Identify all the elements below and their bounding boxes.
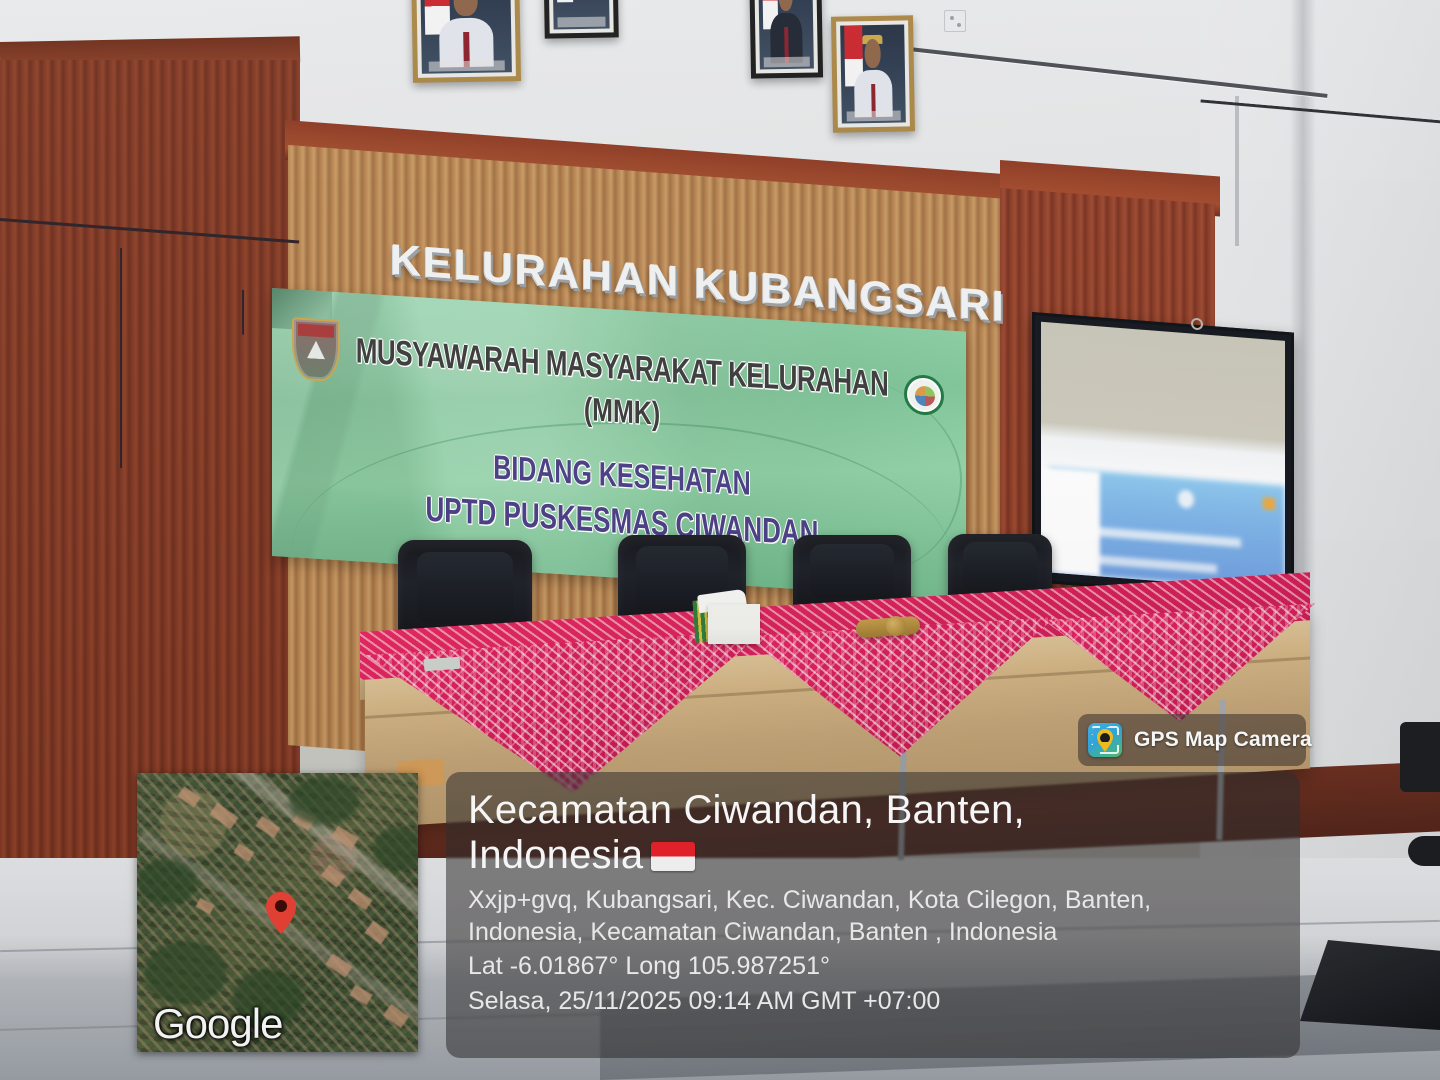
address-line-1: Xxjp+gvq, Kubangsari, Kec. Ciwandan, Kot… — [468, 886, 1151, 914]
map-vegetation — [289, 777, 359, 825]
remote-control — [424, 657, 461, 671]
capture-timestamp: Selasa, 25/11/2025 09:14 AM GMT +07:00 — [468, 985, 1300, 1018]
slide-accent — [1263, 497, 1275, 510]
projector-screen — [1032, 312, 1294, 603]
map-vegetation — [373, 827, 418, 871]
photo-canvas: KELURAHAN KUBANGSARI MUSYAWARAH MASYARAK… — [0, 0, 1440, 1080]
address-line-2: Indonesia, Kecamatan Ciwandan, Banten , … — [468, 918, 1057, 946]
power-outlet — [944, 10, 966, 32]
location-title-line-1: Kecamatan Ciwandan, Banten, — [468, 788, 1025, 832]
portrait-image — [840, 24, 906, 123]
official-portrait — [749, 0, 823, 79]
location-title: Kecamatan Ciwandan, Banten, Indonesia — [468, 788, 1228, 878]
screen-hook — [1191, 318, 1203, 331]
rope-drop — [120, 248, 122, 468]
screen-surface — [1041, 322, 1285, 591]
portrait-caption — [429, 60, 505, 71]
tissue-box — [708, 604, 760, 644]
portrait-image — [552, 0, 609, 29]
dark-equipment — [1400, 722, 1440, 792]
google-watermark: Google — [153, 1000, 282, 1048]
map-thumbnail[interactable]: Google — [137, 773, 418, 1052]
location-coordinates: Lat -6.01867° Long 105.987251° — [468, 950, 1300, 983]
map-vegetation — [137, 859, 197, 905]
official-portrait — [543, 0, 619, 39]
rope-loop — [242, 290, 244, 335]
portrait-head — [778, 0, 793, 11]
official-portrait — [831, 15, 915, 132]
map-vegetation — [145, 941, 227, 1005]
gps-camera-app-icon — [1088, 723, 1122, 757]
official-portrait — [411, 0, 521, 83]
portrait-head — [864, 39, 881, 69]
wood-paneling-left — [0, 60, 300, 880]
bamboo-roll-end — [886, 616, 906, 636]
portrait-head — [454, 0, 478, 16]
portrait-caption — [558, 17, 605, 28]
flag-backdrop — [556, 0, 572, 2]
location-address: Xxjp+gvq, Kubangsari, Kec. Ciwandan, Kot… — [468, 884, 1278, 948]
portrait-image — [420, 0, 512, 74]
portrait-caption — [764, 57, 810, 68]
gps-map-camera-badge[interactable]: GPS Map Camera — [1078, 714, 1306, 766]
location-title-line-2: Indonesia — [468, 833, 643, 877]
map-location-pin-icon — [265, 891, 297, 935]
portrait-caption — [847, 111, 901, 122]
portrait-image — [758, 0, 814, 69]
location-info-panel: Kecamatan Ciwandan, Banten, Indonesia Xx… — [446, 772, 1300, 1058]
indonesia-flag-icon — [651, 842, 695, 871]
gps-map-camera-label: GPS Map Camera — [1134, 728, 1312, 752]
dark-equipment-base — [1408, 836, 1440, 866]
